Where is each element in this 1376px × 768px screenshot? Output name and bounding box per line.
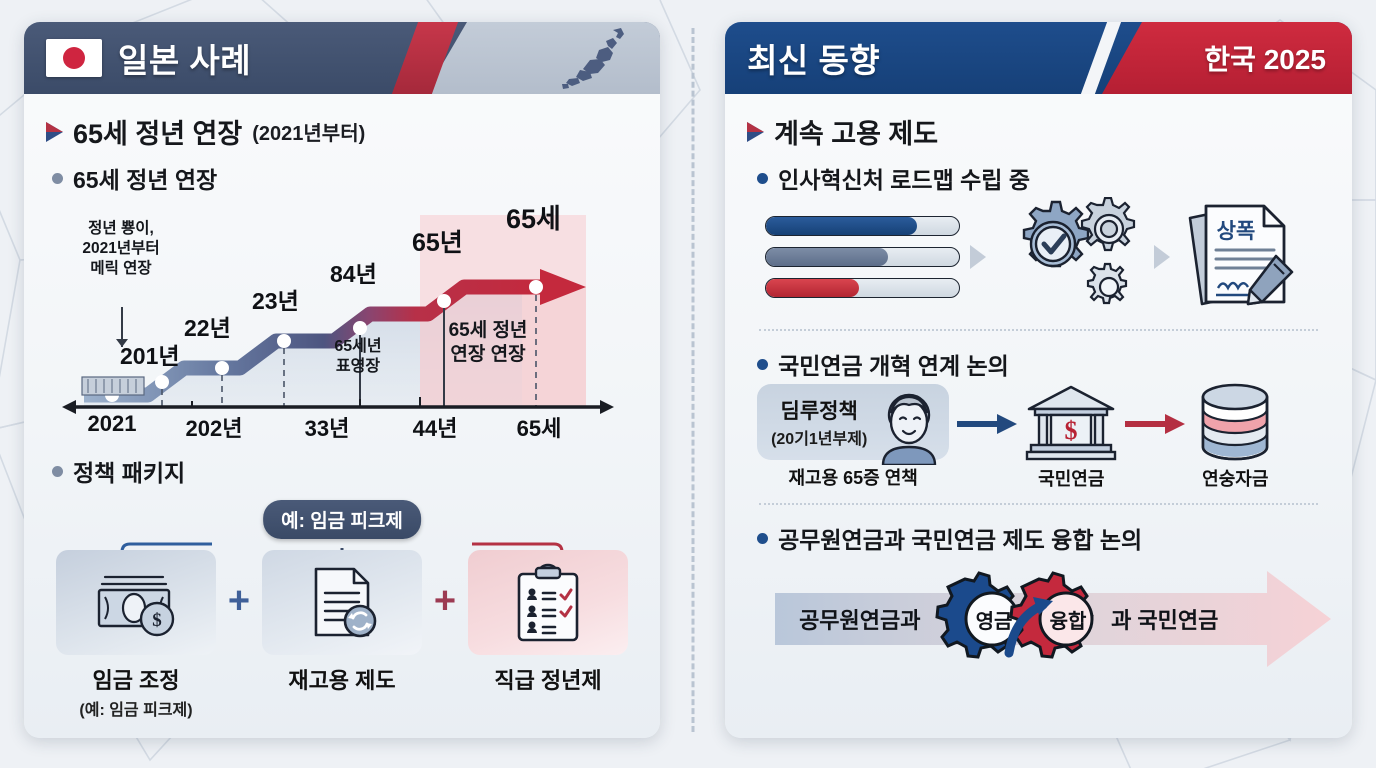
section-divider-1	[759, 329, 1318, 331]
gear-check-icon	[1024, 202, 1088, 266]
section-divider-2	[759, 503, 1318, 505]
bank-dollar-icon: $	[1025, 383, 1117, 461]
japan-flag-icon	[46, 39, 102, 77]
block-fusion: 공무원연금과 국민연금 제도 융합 논의	[745, 515, 1332, 675]
korea-card: 최신 동향 한국 2025 계속 고용 제도 인사혁신처 로드맵 수립 중	[725, 22, 1352, 738]
roadmap-flow: 상폭	[749, 197, 1328, 317]
japan-card-body: 65세 정년 연장 (2021년부터) 65세 정년 연장	[24, 94, 660, 738]
pension-node-label-0: 국민연금	[1038, 465, 1104, 491]
korea-card-body: 계속 고용 제도 인사혁신처 로드맵 수립 중	[725, 94, 1352, 738]
svg-text:$: $	[152, 610, 162, 631]
pension-arrow-blue-icon	[955, 412, 1019, 436]
korea-section-title-label: 계속 고용 제도	[774, 112, 938, 151]
package-badge: 예: 임금 피크제	[263, 500, 421, 539]
chart-heading-label: 65세 정년 연장	[73, 161, 217, 195]
japan-section-title-paren: (2021년부터)	[252, 117, 365, 146]
fusion-left-text: 공무원연금과	[799, 603, 920, 635]
progress-bar-slate[interactable]	[765, 247, 960, 267]
package-tile: $	[56, 550, 216, 655]
japan-card: 일본 사례 65세 정년 연	[24, 22, 660, 738]
fusion-diagram: 공무원연금과 영금 융합 과 국민연금	[749, 557, 1328, 675]
package-card-label: 직급 정년제	[494, 663, 601, 695]
left-panel: 일본 사례 65세 정년 연	[24, 22, 660, 738]
package-card-reemployment[interactable]: 재고용 제도	[262, 550, 422, 695]
pension-flow: 딤루정책 (20기1년부제)	[749, 383, 1328, 491]
progress-bar-group	[765, 216, 960, 298]
gear-ring-icon	[1082, 198, 1134, 250]
fusion-right-text: 과 국민연금	[1111, 603, 1218, 635]
document-refresh-icon	[302, 563, 382, 643]
block-pension: 국민연금 개혁 연계 논의 딤루정책 (20기1년부제)	[745, 341, 1332, 515]
japan-section-title-main: 65세 정년 연장	[73, 112, 242, 151]
banknote-dollar-icon: $	[89, 567, 183, 639]
japan-map-icon	[550, 26, 636, 94]
policy-pill-title: 딤루정책	[771, 395, 867, 425]
pension-arrow-red-icon	[1123, 412, 1187, 436]
package-heading-label: 정책 패키지	[73, 454, 185, 488]
package-card-label: 임금 조정	[92, 663, 179, 695]
progress-bar-red[interactable]	[765, 278, 960, 298]
block-fusion-heading-label: 공무원연금과 국민연금 제도 융합 논의	[778, 521, 1142, 555]
chart-heading: 65세 정년 연장	[52, 161, 640, 195]
infographic-stage: 일본 사례 65세 정년 연	[0, 0, 1376, 768]
dot-bullet-icon	[757, 173, 768, 184]
package-tile	[262, 550, 422, 655]
package-card-label: 재고용 제도	[288, 663, 395, 695]
plus-sign-2: +	[422, 580, 468, 623]
dot-bullet-icon	[52, 173, 63, 184]
block-roadmap-heading: 인사혁신처 로드맵 수립 중	[757, 161, 1328, 195]
package-card-list: $ 임금 조정 (예: 임금 피크제) +	[44, 550, 640, 720]
package-card-wage-adjustment[interactable]: $ 임금 조정 (예: 임금 피크제)	[56, 550, 216, 720]
vertical-dashed-divider	[691, 28, 694, 732]
database-stack-icon	[1193, 383, 1277, 461]
plus-sign-1: +	[216, 580, 262, 623]
block-roadmap-heading-label: 인사혁신처 로드맵 수립 중	[778, 161, 1030, 195]
elderly-person-icon	[873, 385, 945, 465]
japan-card-header: 일본 사례	[24, 22, 660, 94]
package-card-position-retirement[interactable]: 직급 정년제	[468, 550, 628, 695]
doc-title-text: 상폭	[1217, 220, 1256, 243]
svg-text:$: $	[1065, 416, 1078, 445]
right-panel: 최신 동향 한국 2025 계속 고용 제도 인사혁신처 로드맵 수립 중	[725, 22, 1352, 738]
japan-section-title: 65세 정년 연장 (2021년부터)	[46, 112, 640, 151]
japan-header-title: 일본 사례	[118, 34, 251, 82]
triangle-bullet-icon	[46, 122, 63, 142]
dot-bullet-icon	[757, 359, 768, 370]
dot-bullet-icon	[757, 533, 768, 544]
panel-divider-column	[660, 22, 725, 738]
korea-header-badge: 한국 2025	[1204, 38, 1326, 78]
policy-pill-sub: (20기1년부제)	[771, 425, 867, 449]
pension-node-label-1: 연숭자금	[1202, 465, 1268, 491]
korea-header-title: 최신 동향	[747, 34, 880, 82]
block-pension-heading-label: 국민연금 개혁 연계 논의	[778, 347, 1009, 381]
block-fusion-heading: 공무원연금과 국민연금 제도 융합 논의	[757, 521, 1328, 555]
fusion-gear-left-text: 영금	[968, 605, 1020, 634]
retirement-age-step-chart: 201년 22년 23년 84년 65년 65세 정년 뿅이,2021년부터메릭…	[44, 197, 640, 452]
block-roadmap: 인사혁신처 로드맵 수립 중	[745, 155, 1332, 341]
document-pencil-icon: 상폭	[1180, 198, 1300, 316]
policy-package: 예: 임금 피크제	[44, 492, 640, 728]
progress-bar-blue[interactable]	[765, 216, 960, 236]
fusion-gear-right-text: 융합	[1042, 605, 1094, 634]
dot-bullet-icon	[52, 466, 63, 477]
building-sketch-icon	[82, 377, 144, 395]
flow-arrow-1-icon	[970, 245, 986, 269]
korea-section-title: 계속 고용 제도	[747, 112, 1332, 151]
triangle-bullet-icon	[747, 122, 764, 142]
gears-group-icon	[996, 197, 1144, 317]
flow-arrow-2-icon	[1154, 245, 1170, 269]
gear-small-icon	[1088, 264, 1126, 303]
block-pension-heading: 국민연금 개혁 연계 논의	[757, 347, 1328, 381]
package-tile	[468, 550, 628, 655]
policy-pill[interactable]: 딤루정책 (20기1년부제)	[757, 384, 949, 460]
clipboard-checklist-icon	[509, 562, 587, 644]
package-heading: 정책 패키지	[52, 454, 640, 488]
korea-card-header: 최신 동향 한국 2025	[725, 22, 1352, 94]
package-card-sublabel: (예: 임금 피크제)	[79, 696, 192, 720]
pension-pill-caption: 재고용 65증 연책	[788, 464, 917, 490]
